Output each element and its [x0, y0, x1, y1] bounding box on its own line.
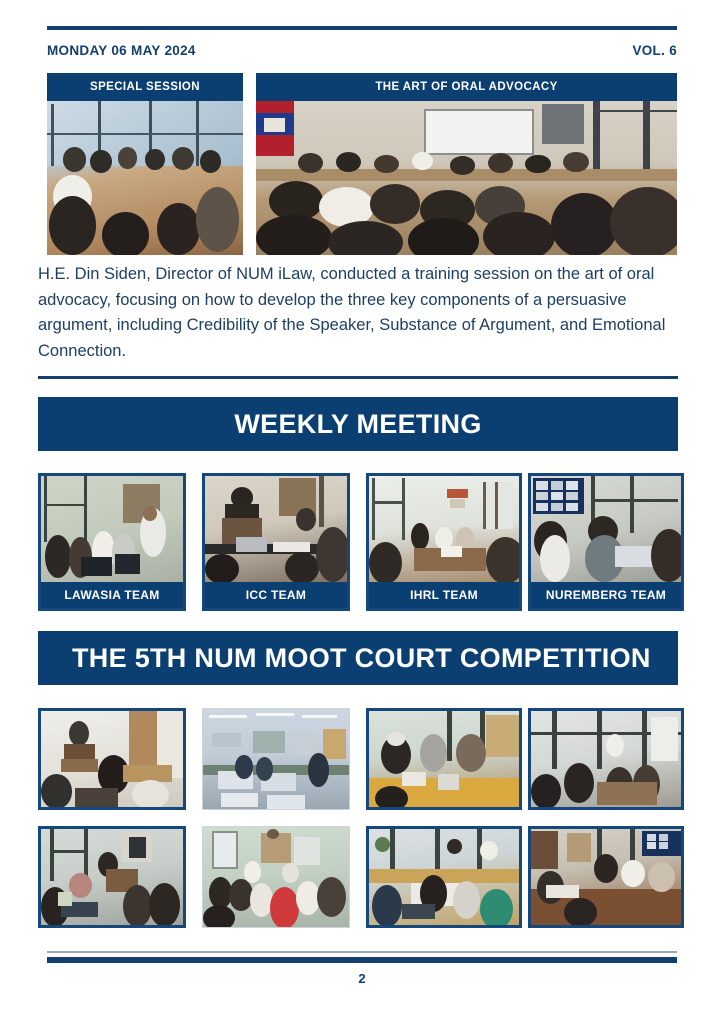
footer-rule-thick [47, 957, 677, 963]
team-card-ihrl: IHRL TEAM [366, 473, 522, 611]
moot-photo-4 [528, 708, 684, 810]
team-card-nuremberg: NUREMBERG TEAM [528, 473, 684, 611]
team-caption: LAWASIA TEAM [41, 582, 183, 608]
section-title: THE 5TH NUM MOOT COURT COMPETITION [72, 643, 651, 674]
photo-special-session [47, 101, 243, 255]
issue-date: MONDAY 06 MAY 2024 [47, 43, 196, 58]
moot-photo-8 [528, 826, 684, 928]
moot-photo-3 [366, 708, 522, 810]
section-banner-moot-court: THE 5TH NUM MOOT COURT COMPETITION [38, 631, 678, 685]
page-number: 2 [0, 971, 724, 986]
section-banner-weekly-meeting: WEEKLY MEETING [38, 397, 678, 451]
team-photo-row: LAWASIA TEAM [38, 473, 684, 611]
top-photo-row: SPECIAL SESSION [47, 73, 677, 255]
photo-oral-advocacy [256, 101, 677, 255]
section-title: WEEKLY MEETING [234, 409, 481, 440]
moot-photo-2 [202, 708, 350, 810]
moot-photo-5 [38, 826, 186, 928]
team-photo [369, 476, 519, 582]
header-top-rule [47, 26, 677, 30]
moot-photo-grid [38, 708, 684, 930]
team-card-lawasia: LAWASIA TEAM [38, 473, 186, 611]
volume-label: VOL. 6 [632, 43, 677, 58]
photo-card-oral-advocacy: THE ART OF ORAL ADVOCACY [256, 73, 677, 255]
photo-card-title: THE ART OF ORAL ADVOCACY [256, 73, 677, 101]
team-card-icc: ICC TEAM [202, 473, 350, 611]
moot-photo-7 [366, 826, 522, 928]
team-photo [41, 476, 183, 582]
footer-rule-thin [47, 951, 677, 953]
team-photo [531, 476, 681, 582]
photo-card-special-session: SPECIAL SESSION [47, 73, 243, 255]
lead-paragraph: H.E. Din Siden, Director of NUM iLaw, co… [38, 262, 678, 364]
team-caption: IHRL TEAM [369, 582, 519, 608]
team-photo [205, 476, 347, 582]
newsletter-page: MONDAY 06 MAY 2024 VOL. 6 SPECIAL SESSIO… [0, 0, 724, 1024]
moot-photo-6 [202, 826, 350, 928]
moot-photo-1 [38, 708, 186, 810]
header-row: MONDAY 06 MAY 2024 VOL. 6 [47, 40, 677, 60]
team-caption: ICC TEAM [205, 582, 347, 608]
team-caption: NUREMBERG TEAM [531, 582, 681, 608]
photo-card-title: SPECIAL SESSION [47, 73, 243, 101]
section-divider-rule [38, 376, 678, 379]
